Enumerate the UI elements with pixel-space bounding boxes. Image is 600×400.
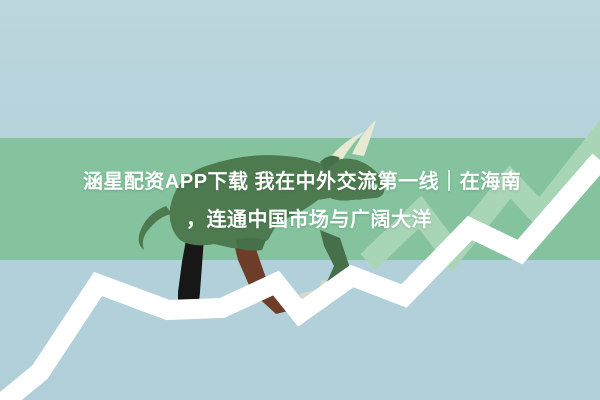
banner-image: 涵星配资APP下载 我在中外交流第一线｜在海南 ，连通中国市场与广阔大洋 (0, 0, 600, 400)
white-zigzag-stock-line (0, 0, 600, 400)
